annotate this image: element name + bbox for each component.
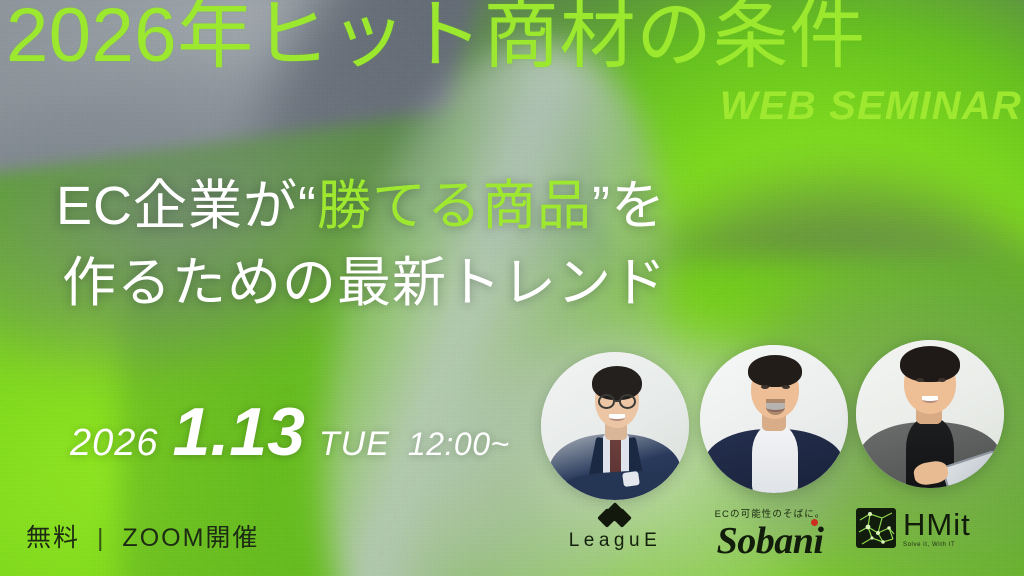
logo-league: LeaguE bbox=[545, 508, 685, 552]
network-nodes-icon bbox=[856, 508, 896, 548]
webinar-banner: 2026年ヒット商材の条件 WEB SEMINAR EC企業が“勝てる商品”を … bbox=[0, 0, 1024, 576]
logo-league-name: LeaguE bbox=[545, 530, 685, 552]
logo-hmit-tagline: Solve it, With IT bbox=[903, 542, 971, 548]
logo-hmit-text: HMit Solve it, With IT bbox=[903, 509, 971, 548]
logo-sobani-name: Sobani bbox=[717, 522, 824, 560]
logo-hmit: HMit Solve it, With IT bbox=[856, 508, 1016, 548]
diamond-chevron-icon bbox=[600, 508, 630, 525]
logo-hmit-name: HMit bbox=[903, 509, 971, 540]
logo-sobani: ECの可能性のそばに。 Sobani bbox=[690, 506, 850, 560]
logo-sobani-wordmark: Sobani bbox=[717, 520, 824, 562]
logo-sobani-tagline: ECの可能性のそばに。 bbox=[690, 506, 850, 520]
sponsor-logo-group: LeaguE ECの可能性のそばに。 Sobani bbox=[0, 0, 1024, 576]
